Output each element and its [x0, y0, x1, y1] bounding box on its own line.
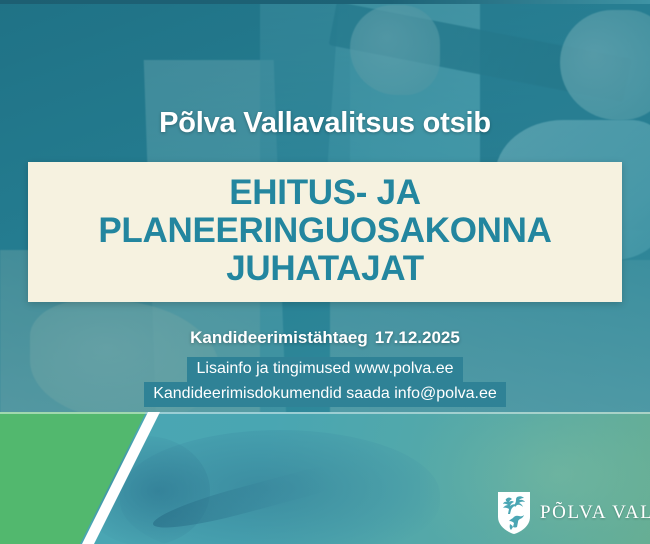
deadline-date: 17.12.2025 — [375, 328, 460, 347]
logo-wordmark: PÕLVA VALD — [540, 502, 650, 524]
poster-header-line: Põlva Vallavalitsus otsib — [0, 107, 650, 140]
job-title: EHITUS- JA PLANEERINGUOSAKONNA JUHATAJAT — [28, 174, 622, 288]
band-top-separator — [0, 412, 650, 414]
job-title-panel: EHITUS- JA PLANEERINGUOSAKONNA JUHATAJAT — [28, 162, 622, 302]
contact-info-block: Lisainfo ja tingimused www.polva.ee Kand… — [0, 357, 650, 407]
info-line-website[interactable]: Lisainfo ja tingimused www.polva.ee — [187, 357, 462, 382]
recruitment-poster: Põlva Vallavalitsus otsib EHITUS- JA PLA… — [0, 0, 650, 544]
job-title-line-2: PLANEERINGUOSAKONNA — [28, 212, 622, 250]
deadline-label: Kandideerimistähtaeg — [190, 328, 368, 347]
job-title-line-3: JUHATAJAT — [28, 250, 622, 288]
top-edge-strip — [0, 0, 650, 4]
info-row: Kandideerimisdokumendid saada info@polva… — [0, 382, 650, 407]
info-row: Lisainfo ja tingimused www.polva.ee — [0, 357, 650, 382]
shield-crest-icon — [497, 491, 531, 535]
application-deadline: Kandideerimistähtaeg17.12.2025 — [0, 328, 650, 348]
job-title-line-1: EHITUS- JA — [28, 174, 622, 212]
kingfisher-bird-image — [120, 430, 440, 544]
info-line-email[interactable]: Kandideerimisdokumendid saada info@polva… — [144, 382, 506, 407]
polva-vald-logo[interactable]: PÕLVA VALD — [497, 491, 650, 535]
